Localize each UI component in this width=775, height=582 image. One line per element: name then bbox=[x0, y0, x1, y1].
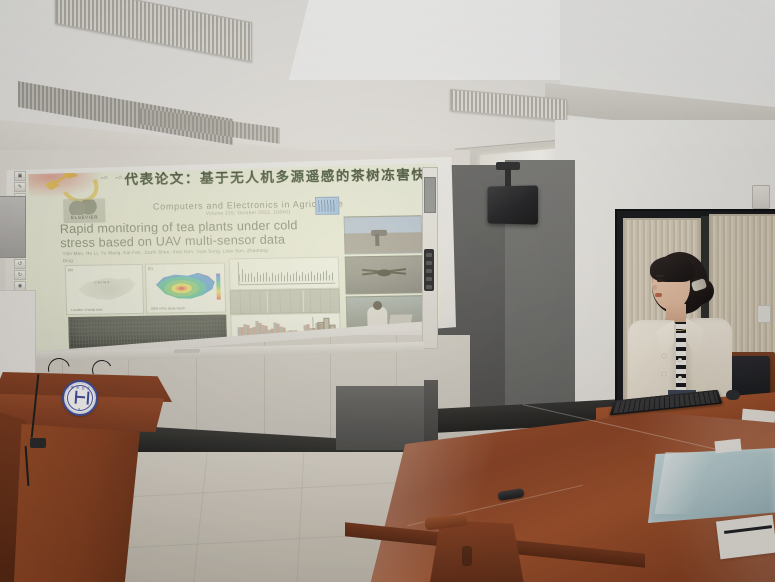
microphone-base-box bbox=[30, 438, 46, 448]
nose bbox=[653, 285, 657, 290]
eyebrow bbox=[656, 275, 664, 277]
mouth bbox=[655, 293, 662, 297]
wall-poster bbox=[0, 290, 36, 380]
journal-badge-icon bbox=[315, 197, 339, 215]
control-panel-display bbox=[424, 177, 436, 213]
side-cabinet bbox=[336, 386, 432, 450]
redo-icon[interactable]: ↻ bbox=[14, 270, 26, 280]
figure-panel-image-strip bbox=[230, 289, 341, 315]
document-sheet bbox=[716, 515, 775, 560]
ceiling-speaker-icon bbox=[488, 185, 539, 224]
figure-panel-b: (b) DEM of the study region bbox=[145, 262, 226, 313]
pen-icon[interactable]: ✎ bbox=[14, 182, 26, 192]
auxiliary-monitor bbox=[0, 196, 26, 258]
chair-back-slot bbox=[462, 546, 472, 566]
figure-panel-timeseries bbox=[229, 257, 340, 291]
figure-panel-a: (a) CHINA Location of study area bbox=[65, 264, 144, 315]
figure-a-caption: Location of study area bbox=[71, 308, 102, 313]
select-icon[interactable]: ▣ bbox=[14, 171, 26, 181]
figure-b-label: (b) bbox=[148, 266, 153, 271]
undo-icon[interactable]: ↺ bbox=[14, 259, 26, 269]
figure-a-inner-label: CHINA bbox=[94, 280, 110, 284]
elsevier-tree-icon bbox=[66, 200, 102, 216]
photo-uav-topview bbox=[345, 255, 424, 294]
figure-b-caption: DEM of the study region bbox=[151, 306, 185, 311]
hair-front bbox=[650, 256, 694, 282]
photo-uav-flight bbox=[344, 215, 423, 254]
slide-english-title: Rapid monitoring of tea plants under col… bbox=[60, 219, 311, 250]
mouse[interactable] bbox=[726, 390, 740, 400]
interactive-whiteboard[interactable]: ᨒ ᨒ ᨒᨒ ᨒ 代表论文：基于无人机多源遥感的茶树冻害快速监测研究 ELSEV… bbox=[4, 157, 456, 362]
bar-series bbox=[231, 314, 339, 316]
eye bbox=[657, 279, 663, 282]
emblem-bottom-text: ★ bbox=[63, 406, 95, 412]
speaker-mount bbox=[505, 168, 511, 188]
conference-room-photo: ᨒ ᨒ ᨒᨒ ᨒ 代表论文：基于无人机多源遥感的茶树冻害快速监测研究 ELSEV… bbox=[0, 0, 775, 582]
whiteboard-marker[interactable] bbox=[174, 349, 200, 354]
elsevier-wordmark: ELSEVIER bbox=[63, 214, 105, 220]
light-switch-icon[interactable] bbox=[752, 185, 770, 209]
power-outlet-icon bbox=[757, 305, 771, 323]
figure-a-label: (a) bbox=[68, 267, 73, 272]
monitor-glare bbox=[655, 452, 736, 514]
control-panel-buttons[interactable] bbox=[424, 249, 434, 291]
